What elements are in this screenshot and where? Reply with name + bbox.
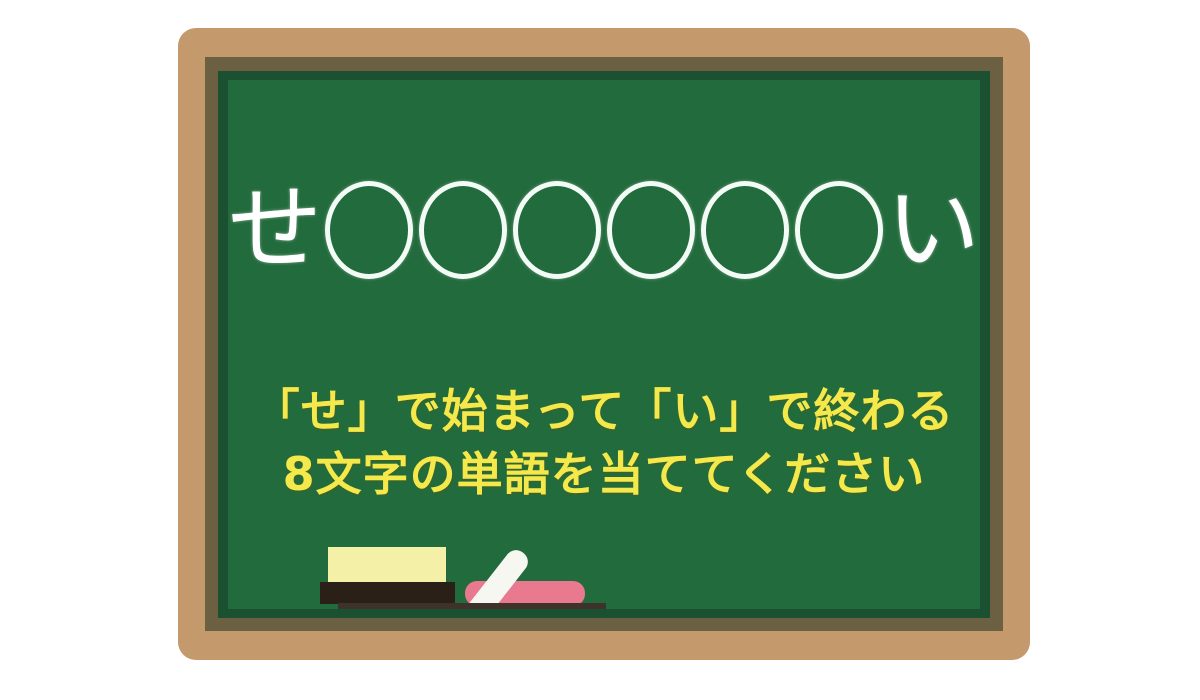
chalkboard-rim: せ い 「せ」で始まって「い」で終わる 8文字の単語を当ててください <box>218 71 990 618</box>
word-puzzle-row: せ い <box>228 176 980 284</box>
puzzle-blank-1[interactable] <box>322 182 416 278</box>
puzzle-char-first: せ <box>228 183 322 277</box>
screenshot-canvas: せ い 「せ」で始まって「い」で終わる 8文字の単語を当ててください <box>0 0 1200 700</box>
eraser-base-icon <box>320 582 455 604</box>
chalk-tray-group <box>320 539 620 609</box>
puzzle-blank-3[interactable] <box>510 182 604 278</box>
eraser-felt-icon <box>328 547 446 582</box>
puzzle-blank-5[interactable] <box>698 182 792 278</box>
instruction-block: 「せ」で始まって「い」で終わる 8文字の単語を当ててください <box>228 380 980 507</box>
instruction-line-1: 「せ」で始まって「い」で終わる <box>228 380 980 443</box>
chalkboard-surface: せ い 「せ」で始まって「い」で終わる 8文字の単語を当ててください <box>228 80 980 609</box>
instruction-line-2: 8文字の単語を当ててください <box>228 443 980 506</box>
puzzle-blank-2[interactable] <box>416 182 510 278</box>
chalk-tray-ledge <box>338 603 606 609</box>
puzzle-blank-4[interactable] <box>604 182 698 278</box>
puzzle-blank-6[interactable] <box>792 182 886 278</box>
chalkboard-frame: せ い 「せ」で始まって「い」で終わる 8文字の単語を当ててください <box>178 28 1030 660</box>
chalkboard-bevel: せ い 「せ」で始まって「い」で終わる 8文字の単語を当ててください <box>205 57 1003 631</box>
puzzle-char-last: い <box>886 183 980 277</box>
